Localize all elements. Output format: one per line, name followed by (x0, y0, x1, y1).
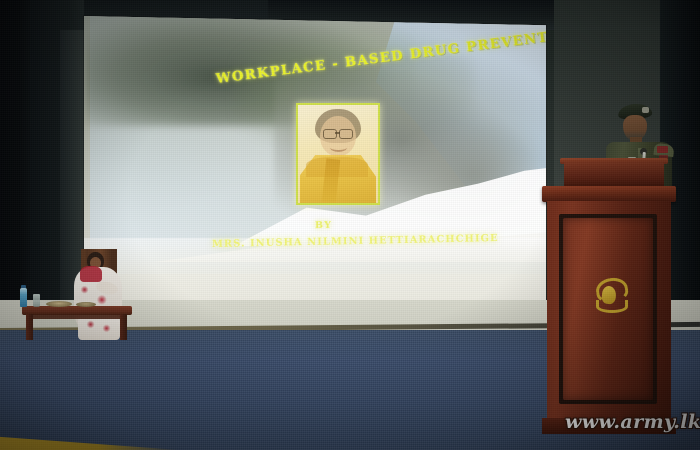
plate (46, 301, 72, 307)
podium (542, 186, 676, 436)
crest-base (596, 300, 628, 313)
portrait-smile (330, 143, 347, 152)
table-leg-right (120, 314, 127, 340)
photograph: WORKPLACE - BASED DRUG PREVENTION BY MRS… (0, 0, 700, 450)
slide-presenter-photo (296, 103, 380, 205)
slide-by-label: BY (315, 220, 333, 231)
seated-woman-blouse (80, 266, 102, 282)
projection-screen: WORKPLACE - BASED DRUG PREVENTION BY MRS… (84, 16, 546, 343)
portrait-glasses-bridge (335, 132, 340, 134)
water-bottle (20, 288, 27, 307)
podium-top-surface (542, 186, 676, 202)
drinking-glass (33, 294, 40, 307)
officer-rank-insignia (657, 146, 668, 153)
projection-screen-surface: WORKPLACE - BASED DRUG PREVENTION BY MRS… (84, 16, 546, 334)
army-crest-emblem-icon (594, 278, 624, 312)
table-leg-left (26, 314, 33, 340)
plate-secondary (76, 302, 96, 307)
site-watermark: www.army.lk (565, 411, 700, 433)
podium-reading-ledge (564, 162, 664, 188)
portrait-glasses-right-lens (339, 129, 353, 139)
portrait-glasses-left-lens (323, 129, 337, 139)
table-apron (26, 314, 127, 319)
officer-beret-badge (642, 107, 649, 113)
low-table (22, 306, 132, 340)
